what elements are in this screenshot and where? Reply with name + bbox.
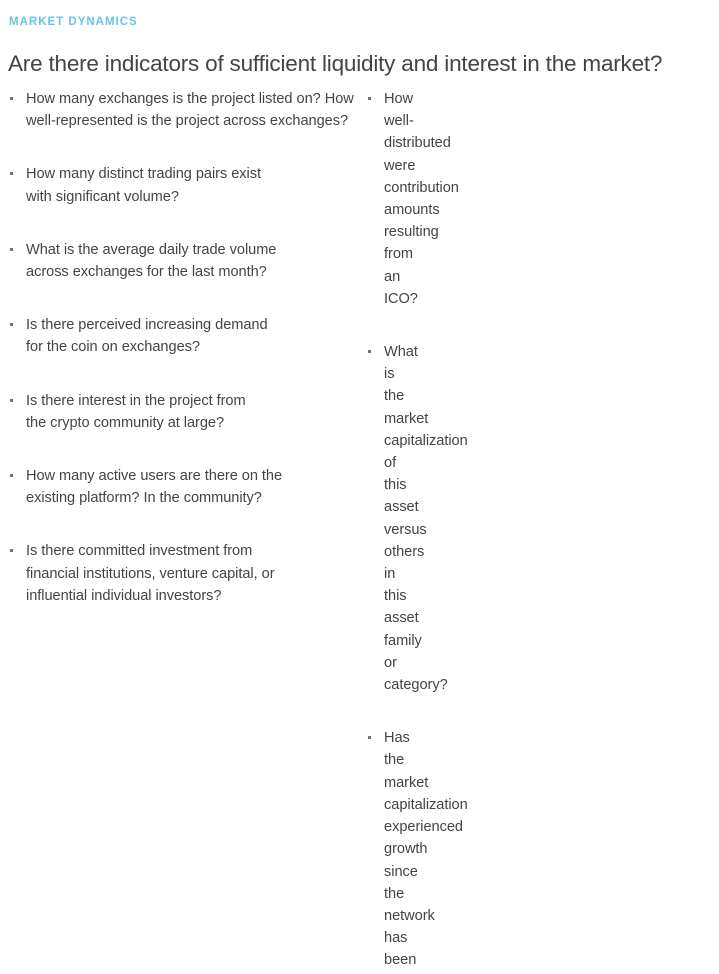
list-item-text: How many exchanges is the project listed… <box>26 88 354 132</box>
bullet-dot-icon <box>10 248 13 251</box>
bullet-dot-icon <box>10 172 13 175</box>
list-item-text: How many active users are there on the e… <box>26 465 354 509</box>
list-item: Has the market capitalization experience… <box>367 727 384 974</box>
list-item: How many distinct trading pairs exist wi… <box>9 163 354 207</box>
list-item-text: Is there perceived increasing demand for… <box>26 314 354 358</box>
bullet-dot-icon <box>10 323 13 326</box>
bullet-dot-icon <box>10 549 13 552</box>
list-item: Is there interest in the project from th… <box>9 390 354 434</box>
list-item: Is there perceived increasing demand for… <box>9 314 354 358</box>
list-item-text: Is there committed investment from finan… <box>26 540 354 607</box>
list-item-text: How many distinct trading pairs exist wi… <box>26 163 354 207</box>
section-eyebrow-label: MARKET DYNAMICS <box>9 15 138 29</box>
bullet-dot-icon <box>10 474 13 477</box>
list-item: How well-distributed were contribution a… <box>367 88 384 310</box>
list-item: Is there committed investment from finan… <box>9 540 354 607</box>
list-item: What is the market capitalization of thi… <box>367 341 384 696</box>
right-column: How well-distributed were contribution a… <box>1 88 371 974</box>
two-column-body: How many exchanges is the project listed… <box>0 88 719 974</box>
list-item-text: What is the average daily trade volume a… <box>26 239 354 283</box>
list-item: How many active users are there on the e… <box>9 465 354 509</box>
list-item: What is the average daily trade volume a… <box>9 239 354 283</box>
document-page: MARKET DYNAMICS Are there indicators of … <box>0 0 719 487</box>
bullet-dot-icon <box>368 350 371 353</box>
bullet-dot-icon <box>368 97 371 100</box>
list-item: How many exchanges is the project listed… <box>9 88 354 132</box>
page-title: Are there indicators of sufficient liqui… <box>8 50 662 78</box>
bullet-dot-icon <box>368 736 371 739</box>
bullet-dot-icon <box>10 399 13 402</box>
bullet-dot-icon <box>10 97 13 100</box>
list-item-text: Is there interest in the project from th… <box>26 390 354 434</box>
